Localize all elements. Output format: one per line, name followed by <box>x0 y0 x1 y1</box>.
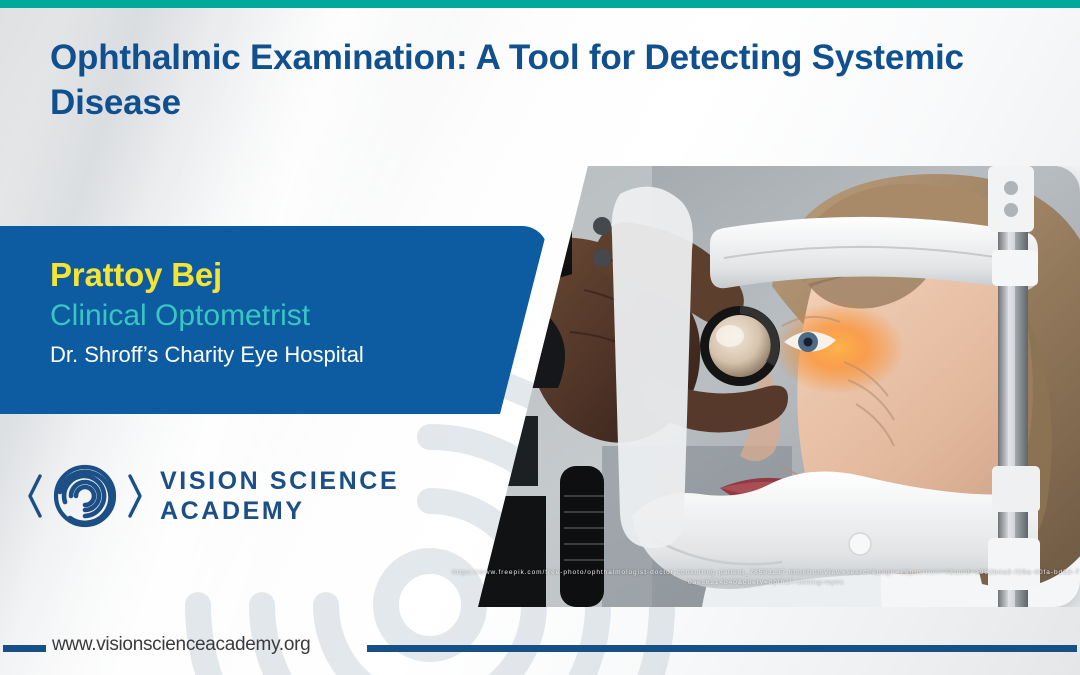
brand-logo: VISION SCIENCE ACADEMY <box>24 458 399 534</box>
vision-science-academy-spiral-eye-icon <box>24 458 146 534</box>
speaker-name: Prattoy Bej <box>50 256 364 295</box>
brand-logo-line1: VISION SCIENCE <box>160 466 399 497</box>
footer-rule-right <box>367 645 1077 652</box>
photo-credit-url: https://www.freepik.com/free-photo/ophth… <box>452 568 1080 588</box>
speaker-panel: Prattoy Bej Clinical Optometrist Dr. Shr… <box>0 226 548 414</box>
speaker-organization: Dr. Shroff’s Charity Eye Hospital <box>50 341 364 370</box>
brand-logo-line2: ACADEMY <box>160 496 399 527</box>
page-title: Ophthalmic Examination: A Tool for Detec… <box>50 36 980 126</box>
presentation-slide: Ophthalmic Examination: A Tool for Detec… <box>0 0 1080 675</box>
hero-photo-illustration <box>452 166 1080 607</box>
footer-website-url[interactable]: www.visionscienceacademy.org <box>52 634 310 656</box>
footer-rule-left <box>3 645 46 652</box>
brand-logo-text: VISION SCIENCE ACADEMY <box>160 466 399 527</box>
hero-photo <box>452 166 1080 607</box>
speaker-role: Clinical Optometrist <box>50 297 364 335</box>
top-accent-bar <box>0 0 1080 8</box>
